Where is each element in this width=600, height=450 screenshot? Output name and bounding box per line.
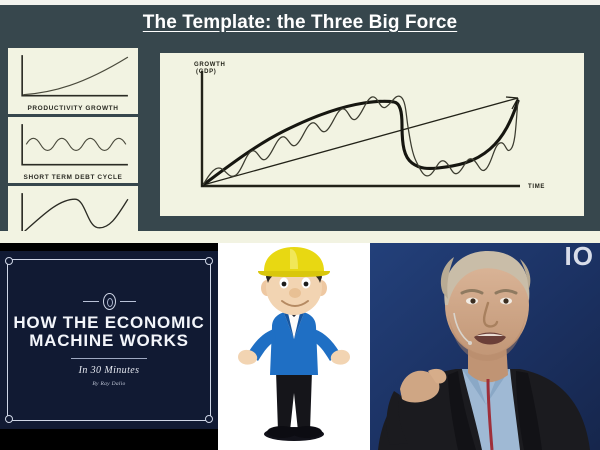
ornament-rule-right <box>120 301 136 302</box>
slide-canvas: The Template: the Three Big Force PRODUC… <box>0 0 600 450</box>
y-axis-label-line2: (GDP) <box>196 69 217 75</box>
frame-corner-icon <box>5 415 13 423</box>
crest-ornament-icon <box>12 293 206 310</box>
title-card-heading-line2: MACHINE WORKS <box>12 332 206 350</box>
frame-corner-icon <box>5 257 13 265</box>
frame-corner-icon <box>205 257 213 265</box>
bottom-image-row: HOW THE ECONOMIC MACHINE WORKS In 30 Min… <box>0 243 600 450</box>
title-card-content: HOW THE ECONOMIC MACHINE WORKS In 30 Min… <box>0 293 218 388</box>
mini-panel-productivity-growth: PRODUCTIVITY GROWTH <box>8 48 138 114</box>
three-forces-panel-stack: PRODUCTIVITY GROWTH SHORT TERM DEBT CYCL… <box>8 48 138 234</box>
cartoon-construction-worker[interactable] <box>218 243 370 450</box>
title-card-heading-line1: HOW THE ECONOMIC <box>12 314 206 332</box>
slide-title-bar: The Template: the Three Big Force <box>0 5 600 41</box>
mini-panel-short-term-debt-cycle: SHORT TERM DEBT CYCLE <box>8 117 138 183</box>
title-card-subtitle: In 30 Minutes <box>12 365 206 376</box>
title-card-author: By Ray Dalio <box>12 381 206 387</box>
ornament-rule-left <box>83 301 99 302</box>
ornament-badge-icon <box>103 293 116 310</box>
frame-corner-icon <box>205 415 213 423</box>
title-card-divider <box>71 358 147 359</box>
main-chart-svg: GROWTH (GDP) TIME <box>160 53 584 216</box>
x-axis-label: TIME <box>528 184 545 190</box>
video-title-card[interactable]: HOW THE ECONOMIC MACHINE WORKS In 30 Min… <box>0 243 218 450</box>
title-card-inner: HOW THE ECONOMIC MACHINE WORKS In 30 Min… <box>0 251 218 429</box>
section-divider-band <box>0 231 600 243</box>
page-title: The Template: the Three Big Force <box>143 12 457 34</box>
y-axis-label-line1: GROWTH <box>194 62 226 68</box>
mini-panel-caption: PRODUCTIVITY GROWTH <box>12 104 134 112</box>
backdrop-banner-text: IO <box>565 243 594 269</box>
mini-panel-caption: SHORT TERM DEBT CYCLE <box>12 173 134 181</box>
exponential-curve-icon <box>12 51 134 104</box>
series-productivity-trend <box>203 97 518 185</box>
ray-dalio-portrait[interactable]: IO <box>370 243 600 450</box>
main-chart-panel: GROWTH (GDP) TIME <box>160 53 584 216</box>
sine-wave-icon <box>12 120 134 173</box>
